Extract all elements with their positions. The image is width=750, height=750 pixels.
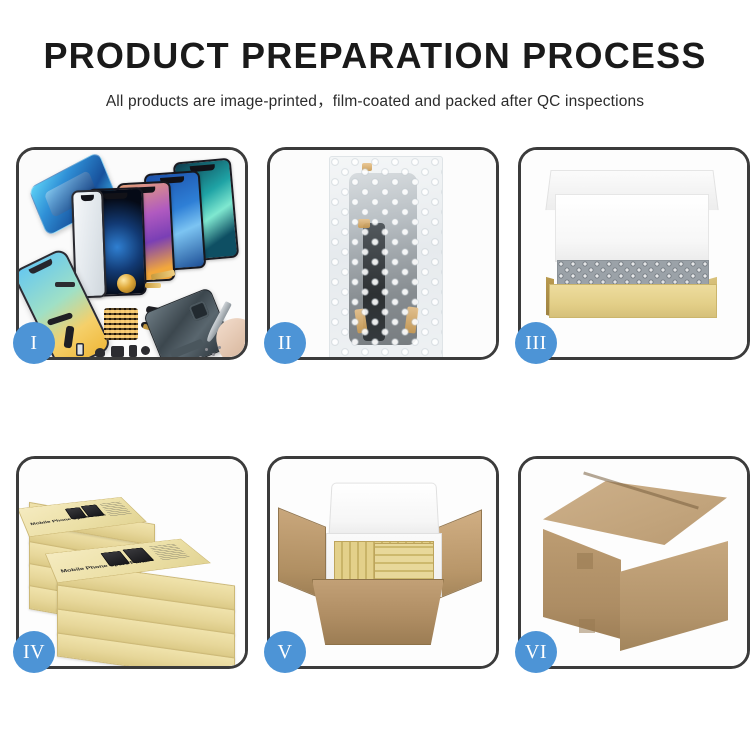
step-badge-2: II [264, 322, 306, 364]
speaker-coil-part [117, 274, 136, 293]
styrofoam-lid [328, 483, 439, 539]
step-5-image [270, 459, 496, 666]
step-badge-4: IV [13, 631, 55, 673]
component-chip [76, 343, 84, 356]
page-title: PRODUCT PREPARATION PROCESS [0, 38, 750, 74]
page-header: PRODUCT PREPARATION PROCESS All products… [0, 0, 750, 111]
component-chip [95, 348, 105, 357]
step-badge-3: III [515, 322, 557, 364]
box-spec-lines [149, 544, 190, 561]
screw-part [205, 348, 208, 351]
page-subtitle: All products are image-printed，film-coat… [0, 74, 750, 111]
carton-tape-patch [579, 619, 595, 633]
component-chip [55, 282, 75, 287]
process-steps-grid: I II III [16, 147, 734, 669]
box-front-panel [549, 284, 717, 318]
process-step-panel-6[interactable]: VI [518, 456, 750, 669]
step-2-image [270, 150, 496, 357]
screw-part [199, 356, 202, 357]
component-chip [129, 345, 137, 357]
process-step-panel-3[interactable]: III [518, 147, 750, 360]
bubble-texture [330, 157, 442, 357]
process-step-panel-4[interactable]: Mobile Phone Spare Parts Mobile Phone Sp… [16, 456, 248, 669]
bubble-wrap-bag [329, 156, 443, 357]
component-chip [141, 346, 150, 355]
shield-mesh-part [104, 308, 138, 340]
process-step-panel-2[interactable]: II [267, 147, 499, 360]
step-badge-6: VI [515, 631, 557, 673]
step-1-image [19, 150, 245, 357]
step-3-image [521, 150, 747, 357]
component-chip [111, 346, 124, 357]
process-step-panel-5[interactable]: V [267, 456, 499, 669]
carton-tape-patch [577, 553, 593, 569]
box-stack: Mobile Phone Spare Parts Mobile Phone Sp… [23, 469, 245, 664]
flex-cable-gold-part [145, 283, 161, 288]
screw-part [212, 353, 215, 356]
process-step-panel-1[interactable]: I [16, 147, 248, 360]
phone-notch-icon [81, 195, 94, 201]
step-badge-1: I [13, 322, 55, 364]
foam-pad [555, 194, 709, 262]
step-4-image: Mobile Phone Spare Parts Mobile Phone Sp… [19, 459, 245, 666]
screw-part [218, 346, 221, 349]
step-badge-5: V [264, 631, 306, 673]
phone-notch-icon [28, 259, 53, 275]
step-6-image [521, 459, 747, 666]
phone-notch-icon [103, 193, 127, 200]
carton-body [312, 579, 444, 645]
